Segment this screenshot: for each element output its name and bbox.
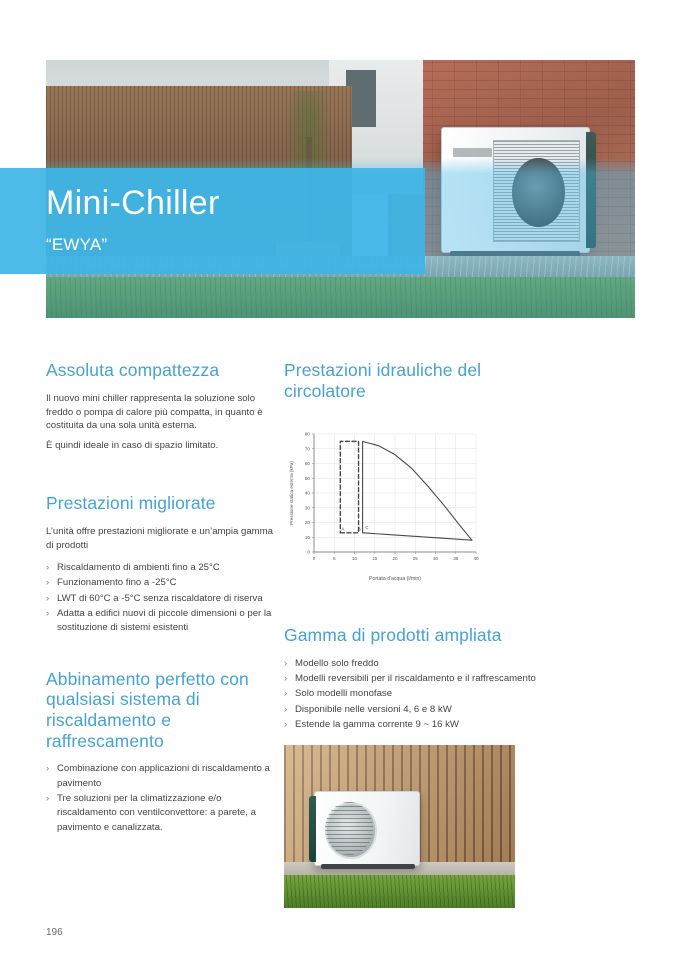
spacer (46, 459, 274, 493)
section-paragraph: Il nuovo mini chiller rappresenta la sol… (46, 392, 274, 434)
svg-text:70: 70 (305, 446, 311, 451)
page-number: 196 (46, 927, 63, 938)
lawn (284, 875, 515, 908)
brochure-page: Mini-Chiller “EWYA” Assoluta compattezza… (0, 0, 678, 959)
chart-xticklabels: 0510152025303540 (313, 552, 479, 561)
outdoor-unit-base (321, 864, 415, 869)
outdoor-unit-fan-grille (325, 802, 373, 855)
svg-text:40: 40 (473, 556, 479, 561)
svg-text:C: C (365, 525, 368, 530)
chevron-right-icon: › (284, 672, 287, 686)
section-paragraph: L’unità offre prestazioni migliorate e u… (46, 525, 274, 553)
chart-yticklabels: 01020304050607080 (305, 432, 314, 555)
list-item-label: Funzionamento fino a -25°C (57, 577, 177, 588)
bullet-list: ›Combinazione con applicazioni di riscal… (46, 762, 274, 835)
svg-text:15: 15 (372, 556, 378, 561)
list-item: ›Adatta a edifici nuovi di piccole dimen… (46, 607, 274, 636)
chart-section-heading: Prestazioni idrauliche del circolatore (284, 360, 550, 401)
list-item: ›Disponibile nelle versioni 4, 6 e 8 kW (284, 703, 554, 717)
svg-text:60: 60 (305, 461, 311, 466)
svg-text:35: 35 (453, 556, 459, 561)
section-paragraph: È quindi ideale in caso di spazio limita… (46, 439, 274, 453)
list-item: ›Modello solo freddo (284, 657, 554, 671)
bullet-list: ›Modello solo freddo ›Modelli reversibil… (284, 657, 554, 733)
spacer (46, 637, 274, 669)
svg-text:80: 80 (305, 432, 311, 437)
list-item: ›Riscaldamento di ambienti fino a 25°C (46, 561, 274, 575)
chevron-right-icon: › (284, 703, 287, 717)
list-item: ›Modelli reversibili per il riscaldament… (284, 672, 554, 686)
list-item-label: Disponibile nelle versioni 4, 6 e 8 kW (295, 704, 452, 715)
svg-text:30: 30 (433, 556, 439, 561)
section-abbinamento-perfetto: Abbinamento perfetto con qualsiasi siste… (46, 669, 274, 836)
svg-text:20: 20 (392, 556, 398, 561)
chevron-right-icon: › (46, 607, 49, 621)
list-item-label: Combinazione con applicazioni di riscald… (57, 763, 270, 788)
list-item-label: Riscaldamento di ambienti fino a 25°C (57, 562, 220, 573)
list-item-label: LWT di 60°C a -5°C senza riscaldatore di… (57, 593, 263, 604)
svg-text:50: 50 (305, 476, 311, 481)
section-gamma-prodotti: Gamma di prodotti ampliata ›Modello solo… (284, 625, 554, 734)
svg-text:25: 25 (413, 556, 419, 561)
list-item: ›Combinazione con applicazioni di riscal… (46, 762, 274, 791)
list-item-label: Modelli reversibili per il riscaldamento… (295, 673, 536, 684)
svg-text:30: 30 (305, 505, 311, 510)
list-item-label: Modello solo freddo (295, 658, 379, 669)
svg-text:10: 10 (352, 556, 358, 561)
pump-performance-chart: 0510152025303540 01020304050607080 ABC P… (284, 424, 484, 586)
section-assoluta-compattezza: Assoluta compattezza Il nuovo mini chill… (46, 360, 274, 453)
section-prestazioni-migliorate: Prestazioni migliorate L’unità offre pre… (46, 493, 274, 635)
left-column: Assoluta compattezza Il nuovo mini chill… (46, 360, 274, 836)
outdoor-unit-side-panel (309, 796, 316, 862)
right-column: Prestazioni idrauliche del circolatore (284, 360, 550, 412)
svg-text:A: A (342, 527, 345, 532)
page-subtitle: “EWYA” (46, 235, 107, 255)
chevron-right-icon: › (284, 718, 287, 732)
chart-series (340, 441, 472, 540)
svg-text:5: 5 (333, 556, 336, 561)
chart-grid (314, 434, 476, 552)
chevron-right-icon: › (46, 561, 49, 575)
bullet-list: ›Riscaldamento di ambienti fino a 25°C ›… (46, 561, 274, 636)
product-photo (284, 745, 515, 908)
chart-xlabel: Portata d'acqua (l/min) (369, 576, 421, 582)
section-heading: Gamma di prodotti ampliata (284, 625, 554, 646)
list-item: ›Estende la gamma corrente 9 ~ 16 kW (284, 718, 554, 732)
list-item-label: Tre soluzioni per la climatizzazione e/o… (57, 793, 256, 833)
outdoor-unit (314, 791, 420, 866)
svg-text:0: 0 (313, 556, 316, 561)
list-item: ›Solo modelli monofase (284, 687, 554, 701)
section-heading: Abbinamento perfetto con qualsiasi siste… (46, 669, 274, 752)
section-heading: Prestazioni migliorate (46, 493, 274, 514)
chevron-right-icon: › (284, 657, 287, 671)
svg-text:0: 0 (307, 550, 310, 555)
page-title: Mini-Chiller (46, 186, 220, 220)
chevron-right-icon: › (284, 687, 287, 701)
list-item-label: Estende la gamma corrente 9 ~ 16 kW (295, 719, 459, 730)
svg-text:20: 20 (305, 520, 311, 525)
chevron-right-icon: › (46, 576, 49, 590)
list-item-label: Adatta a edifici nuovi di piccole dimens… (57, 608, 271, 633)
chevron-right-icon: › (46, 792, 49, 806)
svg-text:40: 40 (305, 491, 311, 496)
svg-text:B: B (358, 527, 361, 532)
chart-svg: 0510152025303540 01020304050607080 ABC P… (284, 424, 484, 586)
list-item: ›Funzionamento fino a -25°C (46, 576, 274, 590)
chart-annotations: ABC (342, 525, 369, 531)
list-item: ›LWT di 60°C a -5°C senza riscaldatore d… (46, 592, 274, 606)
chart-ylabel: Pressione statica esterna (kPa) (289, 461, 294, 525)
list-item-label: Solo modelli monofase (295, 688, 392, 699)
list-item: ›Tre soluzioni per la climatizzazione e/… (46, 792, 274, 835)
chevron-right-icon: › (46, 762, 49, 776)
section-heading: Assoluta compattezza (46, 360, 274, 381)
svg-text:10: 10 (305, 535, 311, 540)
chevron-right-icon: › (46, 592, 49, 606)
